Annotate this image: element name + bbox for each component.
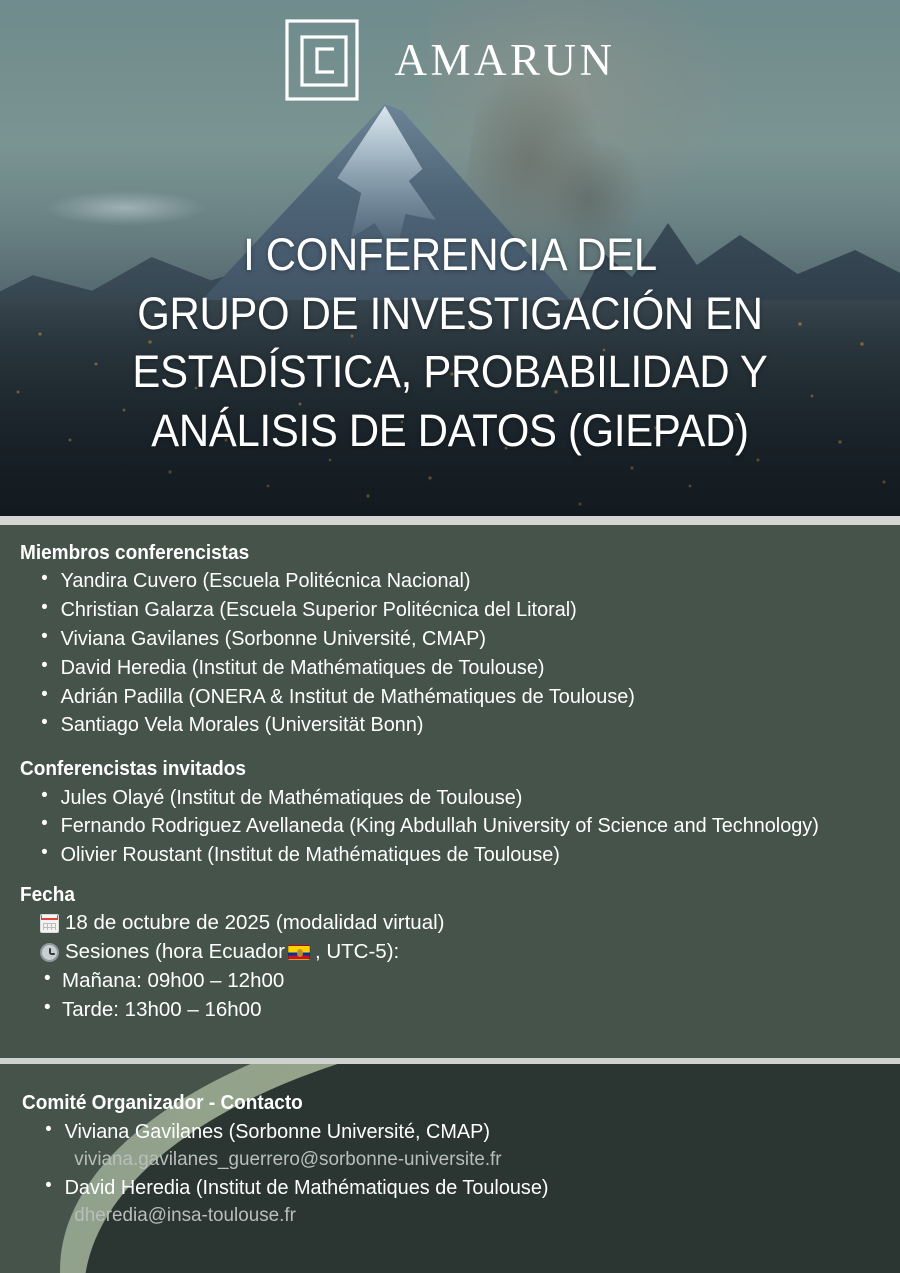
sessions-prefix: Sesiones (hora Ecuador — [65, 938, 285, 967]
contact-list: Viviana Gavilanes (Sorbonne Université, … — [22, 1118, 900, 1230]
members-heading: Miembros conferencistas — [20, 541, 841, 565]
list-item: Jules Olayé (Institut de Mathématiques d… — [18, 784, 856, 813]
conference-poster: AMARUN I CONFERENCIA DEL GRUPO DE INVEST… — [0, 0, 900, 1273]
date-heading: Fecha — [20, 883, 841, 907]
date-text: 18 de octubre de 2025 (modalidad virtual… — [65, 909, 445, 938]
sessions-line: Sesiones (hora Ecuador , UTC-5): — [18, 938, 884, 967]
date-line: 18 de octubre de 2025 (modalidad virtual… — [18, 909, 884, 938]
invited-list: Jules Olayé (Institut de Mathématiques d… — [18, 784, 884, 870]
brand-wordmark: AMARUN — [394, 38, 615, 83]
ecuador-flag-icon — [288, 945, 310, 960]
clock-icon — [40, 943, 59, 962]
list-item: Olivier Roustant (Institut de Mathématiq… — [18, 841, 856, 870]
list-item: Christian Galarza (Escuela Superior Poli… — [18, 596, 856, 625]
list-item: Viviana Gavilanes (Sorbonne Université, … — [22, 1118, 900, 1174]
page-title: I CONFERENCIA DEL GRUPO DE INVESTIGACIÓN… — [32, 226, 869, 460]
spacer — [18, 870, 884, 883]
title-line-1: I CONFERENCIA DEL — [32, 226, 869, 285]
title-line-3: ESTADÍSTICA, PROBABILIDAD Y — [32, 343, 869, 402]
title-line-4: ANÁLISIS DE DATOS (GIEPAD) — [32, 402, 869, 461]
contact-email[interactable]: dheredia@insa-toulouse.fr — [22, 1202, 872, 1230]
session-morning: Mañana: 09h00 – 12h00 — [18, 967, 884, 996]
organizing-committee-heading: Comité Organizador - Contacto — [22, 1092, 856, 1115]
sessions-suffix: , UTC-5): — [315, 938, 399, 967]
list-item: Viviana Gavilanes (Sorbonne Université, … — [18, 625, 856, 654]
list-item: Fernando Rodriguez Avellaneda (King Abdu… — [18, 812, 856, 841]
footer-section: Comité Organizador - Contacto Viviana Ga… — [0, 1064, 900, 1273]
content-section: Miembros conferencistas Yandira Cuvero (… — [0, 525, 900, 1058]
brand-logo: AMARUN — [0, 18, 900, 102]
calendar-icon — [40, 914, 59, 933]
list-item: Adrián Padilla (ONERA & Institut de Math… — [18, 683, 856, 712]
list-item: David Heredia (Institut de Mathématiques… — [18, 654, 856, 683]
contact-name: Viviana Gavilanes (Sorbonne Université, … — [22, 1118, 872, 1146]
list-item: Santiago Vela Morales (Universität Bonn) — [18, 711, 856, 740]
title-line-2: GRUPO DE INVESTIGACIÓN EN — [32, 285, 869, 344]
amarun-square-spiral-logo-icon — [284, 18, 372, 102]
list-item: Yandira Cuvero (Escuela Politécnica Naci… — [18, 567, 856, 596]
contact-name: David Heredia (Institut de Mathématiques… — [22, 1174, 872, 1202]
invited-heading: Conferencistas invitados — [20, 757, 841, 781]
hero-banner: AMARUN I CONFERENCIA DEL GRUPO DE INVEST… — [0, 0, 900, 516]
spacer — [18, 740, 884, 757]
hero-divider — [0, 516, 900, 525]
members-list: Yandira Cuvero (Escuela Politécnica Naci… — [18, 567, 884, 740]
contact-email[interactable]: viviana.gavilanes_guerrero@sorbonne-univ… — [22, 1146, 872, 1174]
list-item: David Heredia (Institut de Mathématiques… — [22, 1174, 900, 1230]
session-afternoon: Tarde: 13h00 – 16h00 — [18, 996, 884, 1025]
